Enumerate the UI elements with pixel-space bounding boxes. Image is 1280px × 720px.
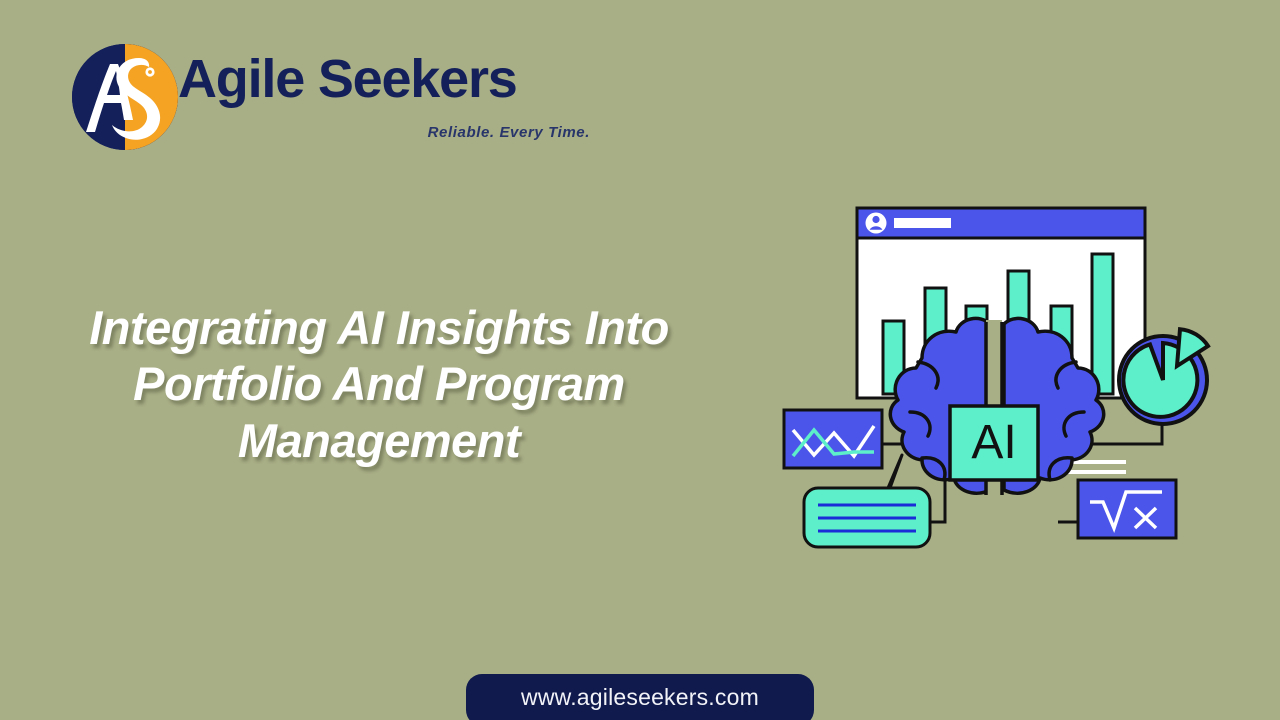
page-title-line-3: Management — [44, 413, 714, 469]
line-chart-node — [784, 410, 882, 468]
page-title-line-1: Integrating AI Insights Into — [44, 300, 714, 356]
ai-analytics-brain-dashboard-illustration: AI — [770, 190, 1230, 560]
brand-name: Agile Seekers — [178, 52, 517, 106]
agile-seekers-circular-swan-logo-icon — [70, 42, 180, 152]
slide-canvas: Agile Seekers Reliable. Every Time. Inte… — [0, 0, 1280, 720]
page-title: Integrating AI Insights Into Portfolio A… — [44, 300, 714, 469]
user-avatar-icon — [866, 213, 887, 234]
bar-6 — [1092, 254, 1113, 394]
brand-logo-block[interactable]: Agile Seekers Reliable. Every Time. — [70, 40, 530, 155]
brand-tagline: Reliable. Every Time. — [360, 124, 590, 141]
ai-chip-label: AI — [971, 416, 1016, 469]
website-url-text: www.agileseekers.com — [521, 686, 759, 715]
website-url-badge[interactable]: www.agileseekers.com — [466, 674, 814, 720]
formula-node — [1078, 480, 1176, 538]
page-title-line-2: Portfolio And Program — [44, 356, 714, 412]
address-bar-placeholder — [894, 218, 951, 228]
